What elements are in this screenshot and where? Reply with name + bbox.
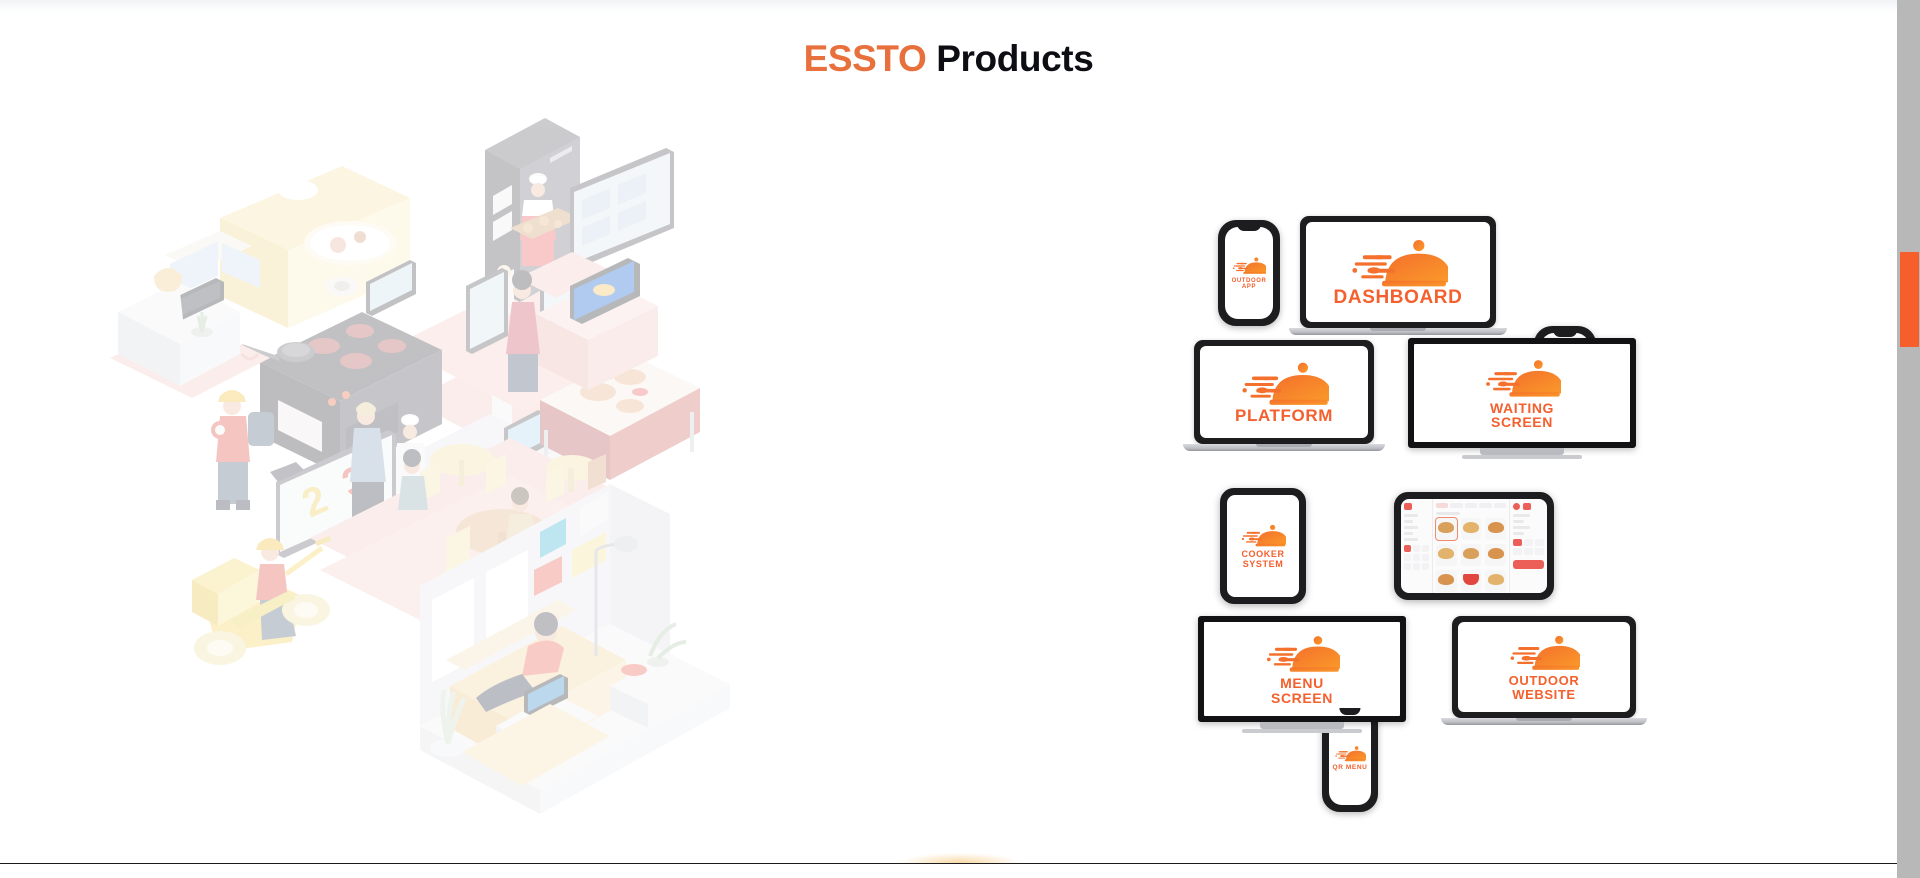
pos-line (1513, 520, 1524, 523)
pos-tablet-screen (1401, 499, 1547, 593)
waiting-screen-display: WAITING SCREEN (1414, 344, 1630, 442)
platform-lid: PLATFORM (1194, 340, 1374, 444)
pos-line (1404, 532, 1413, 535)
device-outdoor-app[interactable]: OUTDOOR APP (1218, 220, 1280, 326)
laptop-base (1441, 718, 1647, 725)
pos-menu-grid (1433, 499, 1509, 593)
top-gradient-strip (0, 0, 1897, 14)
essto-cloche-logo-icon (1232, 256, 1266, 276)
device-menu-screen[interactable]: MENU SCREEN (1198, 616, 1406, 733)
isometric-illustration: 2 3 (110, 100, 810, 840)
pos-keypad[interactable] (1404, 545, 1429, 570)
phone-notch (1553, 330, 1577, 337)
pos-logo-row (1404, 503, 1429, 510)
device-waiting-screen[interactable]: WAITING SCREEN (1408, 338, 1636, 459)
page-scrollbar-track[interactable] (1897, 0, 1920, 878)
monitor-neck (1260, 722, 1344, 729)
device-pos-tablet[interactable] (1394, 492, 1554, 600)
essto-cloche-logo-icon (1334, 745, 1366, 763)
outdoor-app-screen: OUTDOOR APP (1225, 227, 1273, 319)
monitor-foot (1462, 455, 1582, 459)
pos-item[interactable] (1436, 544, 1457, 566)
pos-category-tab[interactable] (1436, 503, 1448, 508)
waiting-screen-panel: WAITING SCREEN (1408, 338, 1636, 448)
pos-key[interactable] (1422, 545, 1429, 552)
product-device-grid: OUTDOOR APP (1212, 220, 1672, 760)
menu-screen-panel: MENU SCREEN (1198, 616, 1406, 722)
pos-key[interactable] (1413, 563, 1420, 570)
pos-key[interactable] (1404, 554, 1411, 561)
platform-label: PLATFORM (1235, 407, 1333, 424)
pos-item[interactable] (1461, 518, 1482, 540)
device-dashboard[interactable]: DASHBOARD (1300, 216, 1496, 335)
pos-line (1404, 514, 1418, 517)
bottom-glow (900, 853, 1020, 863)
pos-category-tab[interactable] (1494, 503, 1506, 508)
pos-key[interactable] (1404, 563, 1411, 570)
pos-line (1404, 520, 1413, 523)
pos-item[interactable] (1485, 518, 1506, 540)
cooker-system-screen: COOKER SYSTEM (1227, 495, 1299, 597)
pos-category-tab[interactable] (1479, 503, 1491, 508)
pos-key[interactable] (1413, 545, 1420, 552)
monitor-neck (1480, 448, 1564, 455)
page-root: ESSTO Products (0, 0, 1920, 878)
essto-cloche-logo-icon (1348, 236, 1448, 292)
pos-category-tab[interactable] (1465, 503, 1477, 508)
pos-delete-icon[interactable] (1523, 503, 1531, 510)
menu-screen-display: MENU SCREEN (1204, 622, 1400, 716)
pos-item[interactable] (1485, 544, 1506, 566)
pos-category-tabs[interactable] (1436, 503, 1506, 508)
waiting-screen-label: WAITING SCREEN (1490, 401, 1554, 430)
page-scrollbar-thumb[interactable] (1900, 252, 1919, 347)
device-outdoor-website[interactable]: OUTDOOR WEBSITE (1452, 616, 1636, 725)
essto-cloche-logo-icon (1483, 357, 1561, 401)
qr-menu-label: QR MENU (1333, 765, 1368, 772)
pos-key[interactable] (1513, 548, 1522, 555)
page-title-rest: Products (926, 38, 1093, 79)
platform-screen: PLATFORM (1200, 346, 1368, 438)
pos-key[interactable] (1413, 554, 1420, 561)
pos-item[interactable] (1461, 570, 1482, 592)
pos-key[interactable] (1422, 563, 1429, 570)
dashboard-lid: DASHBOARD (1300, 216, 1496, 328)
pos-cart-actions[interactable] (1513, 539, 1544, 555)
dashboard-screen: DASHBOARD (1306, 222, 1490, 322)
pos-cart-panel (1509, 499, 1547, 593)
pos-item-grid (1436, 518, 1506, 593)
pos-key[interactable] (1513, 539, 1522, 546)
bottom-divider (0, 863, 1897, 864)
pos-line (1513, 532, 1524, 535)
outdoor-app-label: OUTDOOR APP (1232, 278, 1267, 290)
pos-line (1404, 526, 1418, 529)
menu-screen-label: MENU SCREEN (1271, 676, 1333, 705)
pos-item[interactable] (1485, 570, 1506, 592)
laptop-base (1289, 328, 1507, 335)
pos-key[interactable] (1524, 548, 1533, 555)
device-platform[interactable]: PLATFORM (1194, 340, 1374, 451)
dashboard-label: DASHBOARD (1334, 288, 1463, 307)
essto-cloche-logo-icon (1508, 633, 1580, 674)
pos-key[interactable] (1524, 539, 1533, 546)
essto-cloche-logo-icon (1240, 523, 1286, 549)
pos-key[interactable] (1422, 554, 1429, 561)
pos-cart-icon (1513, 503, 1520, 510)
phone-notch (1237, 224, 1261, 231)
outdoor-website-label: OUTDOOR WEBSITE (1509, 674, 1580, 701)
pos-section-title (1436, 512, 1460, 515)
pos-line (1513, 526, 1530, 529)
pos-interface (1401, 499, 1547, 593)
pos-order-panel (1401, 499, 1433, 593)
pos-key[interactable] (1535, 548, 1544, 555)
laptop-base (1183, 444, 1385, 451)
pos-brand-icon (1404, 503, 1412, 510)
outdoor-website-lid: OUTDOOR WEBSITE (1452, 616, 1636, 718)
essto-cloche-logo-icon (1239, 359, 1329, 410)
pos-key[interactable] (1404, 545, 1411, 552)
essto-cloche-logo-icon (1264, 633, 1340, 676)
pos-line (1404, 538, 1418, 541)
pos-cart-header (1513, 503, 1544, 510)
page-title: ESSTO Products (0, 38, 1897, 80)
outdoor-website-screen: OUTDOOR WEBSITE (1458, 622, 1630, 712)
pos-key[interactable] (1535, 539, 1544, 546)
pos-item[interactable] (1461, 544, 1482, 566)
pos-item[interactable] (1436, 518, 1457, 540)
pos-checkout-button[interactable] (1513, 560, 1544, 569)
page-title-brand: ESSTO (804, 38, 927, 79)
pos-item[interactable] (1436, 570, 1457, 592)
pos-category-tab[interactable] (1450, 503, 1462, 508)
monitor-foot (1242, 729, 1362, 733)
pos-line (1513, 514, 1530, 517)
cooker-system-label: COOKER SYSTEM (1241, 550, 1284, 568)
device-cooker-system[interactable]: COOKER SYSTEM (1220, 488, 1306, 604)
